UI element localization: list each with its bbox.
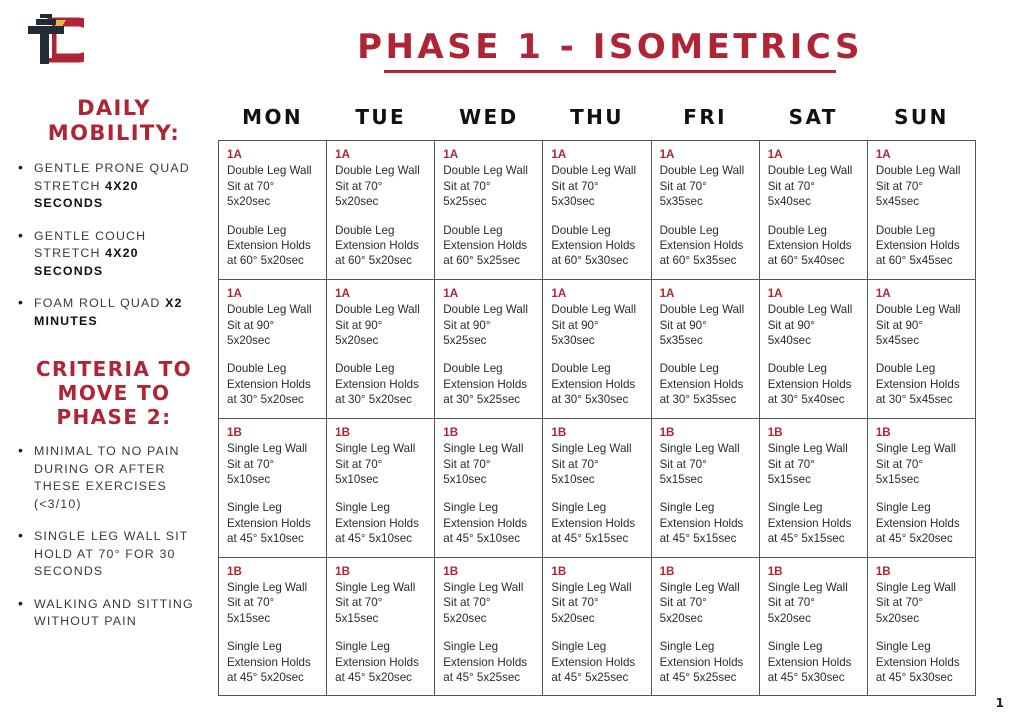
workout-cell[interactable]: 1BSingle Leg Wall Sit at 70° 5x20secSing… <box>651 557 759 696</box>
exercise-secondary: Single Leg Extension Holds at 45° 5x30se… <box>876 639 968 685</box>
exercise-tag: 1B <box>660 564 752 579</box>
exercise-secondary: Double Leg Extension Holds at 30° 5x35se… <box>660 361 752 407</box>
workout-cell[interactable]: 1BSingle Leg Wall Sit at 70° 5x10secSing… <box>543 418 651 557</box>
exercise-primary: Double Leg Wall Sit at 70° 5x20sec <box>335 163 427 209</box>
exercise-primary: Double Leg Wall Sit at 90° 5x45sec <box>876 302 968 348</box>
exercise-tag: 1B <box>768 564 860 579</box>
exercise-spacer <box>876 626 968 639</box>
exercise-tag: 1A <box>551 286 643 301</box>
workout-cell[interactable]: 1ADouble Leg Wall Sit at 70° 5x30secDoub… <box>543 141 651 280</box>
weekly-program-table: MONTUEWEDTHUFRISATSUN 1ADouble Leg Wall … <box>218 105 976 696</box>
exercise-spacer <box>443 348 535 361</box>
workout-cell[interactable]: 1BSingle Leg Wall Sit at 70° 5x10secSing… <box>435 418 543 557</box>
exercise-secondary: Single Leg Extension Holds at 45° 5x15se… <box>768 500 860 546</box>
exercise-spacer <box>876 348 968 361</box>
workout-cell[interactable]: 1BSingle Leg Wall Sit at 70° 5x15secSing… <box>327 557 435 696</box>
workout-cell[interactable]: 1BSingle Leg Wall Sit at 70° 5x15secSing… <box>651 418 759 557</box>
exercise-primary: Single Leg Wall Sit at 70° 5x10sec <box>227 441 319 487</box>
criteria-heading: CRITERIA TO MOVE TO PHASE 2: <box>16 357 212 429</box>
exercise-spacer <box>660 348 752 361</box>
exercise-spacer <box>551 348 643 361</box>
workout-cell[interactable]: 1BSingle Leg Wall Sit at 70° 5x15secSing… <box>759 418 867 557</box>
exercise-spacer <box>768 210 860 223</box>
exercise-spacer <box>768 487 860 500</box>
exercise-spacer <box>443 626 535 639</box>
exercise-primary: Double Leg Wall Sit at 90° 5x30sec <box>551 302 643 348</box>
exercise-tag: 1A <box>227 147 319 162</box>
workout-cell[interactable]: 1ADouble Leg Wall Sit at 90° 5x35secDoub… <box>651 279 759 418</box>
exercise-primary: Single Leg Wall Sit at 70° 5x10sec <box>335 441 427 487</box>
exercise-primary: Single Leg Wall Sit at 70° 5x20sec <box>551 580 643 626</box>
exercise-tag: 1B <box>227 564 319 579</box>
table-row: 1BSingle Leg Wall Sit at 70° 5x15secSing… <box>219 557 976 696</box>
exercise-secondary: Double Leg Extension Holds at 60° 5x45se… <box>876 223 968 269</box>
exercise-primary: Double Leg Wall Sit at 70° 5x25sec <box>443 163 535 209</box>
exercise-secondary: Single Leg Extension Holds at 45° 5x20se… <box>876 500 968 546</box>
criteria-item-text: MINIMAL TO NO PAIN DURING OR AFTER THESE… <box>34 444 180 511</box>
day-header-tue: TUE <box>327 105 435 141</box>
day-header-sat: SAT <box>759 105 867 141</box>
day-header-wed: WED <box>435 105 543 141</box>
exercise-primary: Single Leg Wall Sit at 70° 5x20sec <box>443 580 535 626</box>
exercise-secondary: Double Leg Extension Holds at 60° 5x20se… <box>227 223 319 269</box>
exercise-secondary: Single Leg Extension Holds at 45° 5x25se… <box>660 639 752 685</box>
exercise-tag: 1A <box>335 147 427 162</box>
workout-cell[interactable]: 1ADouble Leg Wall Sit at 90° 5x30secDoub… <box>543 279 651 418</box>
exercise-tag: 1B <box>768 425 860 440</box>
exercise-secondary: Double Leg Extension Holds at 30° 5x40se… <box>768 361 860 407</box>
workout-cell[interactable]: 1BSingle Leg Wall Sit at 70° 5x15secSing… <box>219 557 327 696</box>
exercise-tag: 1A <box>335 286 427 301</box>
exercise-spacer <box>335 487 427 500</box>
workout-cell[interactable]: 1BSingle Leg Wall Sit at 70° 5x20secSing… <box>867 557 975 696</box>
exercise-secondary: Single Leg Extension Holds at 45° 5x15se… <box>660 500 752 546</box>
exercise-secondary: Double Leg Extension Holds at 30° 5x20se… <box>227 361 319 407</box>
exercise-spacer <box>551 487 643 500</box>
page-title: PHASE 1 - ISOMETRICS <box>230 27 990 73</box>
exercise-primary: Double Leg Wall Sit at 90° 5x25sec <box>443 302 535 348</box>
exercise-spacer <box>443 487 535 500</box>
brand-logo-icon <box>22 14 84 66</box>
exercise-primary: Single Leg Wall Sit at 70° 5x15sec <box>227 580 319 626</box>
exercise-primary: Double Leg Wall Sit at 90° 5x40sec <box>768 302 860 348</box>
exercise-secondary: Double Leg Extension Holds at 30° 5x25se… <box>443 361 535 407</box>
exercise-spacer <box>768 626 860 639</box>
exercise-tag: 1B <box>551 564 643 579</box>
table-row: 1BSingle Leg Wall Sit at 70° 5x10secSing… <box>219 418 976 557</box>
exercise-tag: 1B <box>443 564 535 579</box>
weekly-program-table-wrapper: MONTUEWEDTHUFRISATSUN 1ADouble Leg Wall … <box>218 105 976 696</box>
exercise-secondary: Single Leg Extension Holds at 45° 5x30se… <box>768 639 860 685</box>
exercise-secondary: Single Leg Extension Holds at 45° 5x20se… <box>335 639 427 685</box>
exercise-spacer <box>876 487 968 500</box>
exercise-tag: 1B <box>443 425 535 440</box>
day-header-mon: MON <box>219 105 327 141</box>
workout-cell[interactable]: 1ADouble Leg Wall Sit at 70° 5x25secDoub… <box>435 141 543 280</box>
workout-cell[interactable]: 1ADouble Leg Wall Sit at 90° 5x25secDoub… <box>435 279 543 418</box>
exercise-secondary: Double Leg Extension Holds at 60° 5x40se… <box>768 223 860 269</box>
criteria-item: SINGLE LEG WALL SIT HOLD AT 70° FOR 30 S… <box>16 528 212 581</box>
exercise-tag: 1B <box>551 425 643 440</box>
exercise-primary: Single Leg Wall Sit at 70° 5x15sec <box>660 441 752 487</box>
exercise-tag: 1B <box>335 564 427 579</box>
criteria-list: MINIMAL TO NO PAIN DURING OR AFTER THESE… <box>16 443 212 631</box>
mobility-item: FOAM ROLL QUAD X2 MINUTES <box>16 295 212 330</box>
exercise-tag: 1A <box>443 286 535 301</box>
exercise-spacer <box>335 626 427 639</box>
exercise-tag: 1A <box>443 147 535 162</box>
exercise-primary: Double Leg Wall Sit at 90° 5x35sec <box>660 302 752 348</box>
mobility-item-text: FOAM ROLL QUAD <box>34 296 165 310</box>
exercise-tag: 1B <box>335 425 427 440</box>
workout-cell[interactable]: 1BSingle Leg Wall Sit at 70° 5x10secSing… <box>219 418 327 557</box>
exercise-secondary: Double Leg Extension Holds at 60° 5x20se… <box>335 223 427 269</box>
exercise-secondary: Single Leg Extension Holds at 45° 5x10se… <box>335 500 427 546</box>
exercise-spacer <box>227 487 319 500</box>
exercise-primary: Single Leg Wall Sit at 70° 5x15sec <box>335 580 427 626</box>
exercise-tag: 1B <box>660 425 752 440</box>
exercise-primary: Single Leg Wall Sit at 70° 5x20sec <box>768 580 860 626</box>
exercise-tag: 1B <box>876 564 968 579</box>
day-header-row: MONTUEWEDTHUFRISATSUN <box>219 105 976 141</box>
workout-cell[interactable]: 1ADouble Leg Wall Sit at 90° 5x45secDoub… <box>867 279 975 418</box>
exercise-secondary: Single Leg Extension Holds at 45° 5x25se… <box>443 639 535 685</box>
exercise-secondary: Single Leg Extension Holds at 45° 5x25se… <box>551 639 643 685</box>
exercise-primary: Single Leg Wall Sit at 70° 5x10sec <box>551 441 643 487</box>
daily-mobility-list: GENTLE PRONE QUAD STRETCH 4X20 SECONDSGE… <box>16 160 212 330</box>
workout-cell[interactable]: 1ADouble Leg Wall Sit at 90° 5x20secDoub… <box>327 279 435 418</box>
criteria-item-text: WALKING AND SITTING WITHOUT PAIN <box>34 597 194 629</box>
title-underline <box>384 70 836 73</box>
exercise-secondary: Single Leg Extension Holds at 45° 5x10se… <box>443 500 535 546</box>
exercise-spacer <box>876 210 968 223</box>
exercise-tag: 1A <box>876 286 968 301</box>
exercise-primary: Single Leg Wall Sit at 70° 5x15sec <box>768 441 860 487</box>
page-title-text: PHASE 1 - ISOMETRICS <box>357 27 863 67</box>
exercise-secondary: Single Leg Extension Holds at 45° 5x10se… <box>227 500 319 546</box>
exercise-spacer <box>227 348 319 361</box>
workout-cell[interactable]: 1BSingle Leg Wall Sit at 70° 5x20secSing… <box>543 557 651 696</box>
exercise-spacer <box>660 626 752 639</box>
exercise-spacer <box>660 487 752 500</box>
workout-cell[interactable]: 1ADouble Leg Wall Sit at 90° 5x40secDoub… <box>759 279 867 418</box>
sidebar-spacer <box>16 345 212 357</box>
exercise-primary: Single Leg Wall Sit at 70° 5x10sec <box>443 441 535 487</box>
exercise-secondary: Double Leg Extension Holds at 30° 5x45se… <box>876 361 968 407</box>
mobility-item: GENTLE PRONE QUAD STRETCH 4X20 SECONDS <box>16 160 212 213</box>
exercise-secondary: Double Leg Extension Holds at 60° 5x35se… <box>660 223 752 269</box>
exercise-tag: 1A <box>227 286 319 301</box>
exercise-tag: 1A <box>660 147 752 162</box>
exercise-secondary: Double Leg Extension Holds at 30° 5x30se… <box>551 361 643 407</box>
exercise-tag: 1A <box>876 147 968 162</box>
workout-cell[interactable]: 1ADouble Leg Wall Sit at 70° 5x40secDoub… <box>759 141 867 280</box>
exercise-tag: 1A <box>768 147 860 162</box>
exercise-spacer <box>335 348 427 361</box>
workout-cell[interactable]: 1ADouble Leg Wall Sit at 70° 5x20secDoub… <box>219 141 327 280</box>
exercise-spacer <box>551 626 643 639</box>
exercise-spacer <box>660 210 752 223</box>
exercise-primary: Double Leg Wall Sit at 70° 5x45sec <box>876 163 968 209</box>
workout-cell[interactable]: 1ADouble Leg Wall Sit at 70° 5x45secDoub… <box>867 141 975 280</box>
criteria-item-text: SINGLE LEG WALL SIT HOLD AT 70° FOR 30 S… <box>34 529 188 578</box>
exercise-spacer <box>227 210 319 223</box>
exercise-primary: Double Leg Wall Sit at 90° 5x20sec <box>335 302 427 348</box>
workout-cell[interactable]: 1BSingle Leg Wall Sit at 70° 5x20secSing… <box>435 557 543 696</box>
page-number: 1 <box>996 696 1004 710</box>
day-header-sun: SUN <box>867 105 975 141</box>
exercise-primary: Single Leg Wall Sit at 70° 5x20sec <box>660 580 752 626</box>
exercise-primary: Double Leg Wall Sit at 70° 5x35sec <box>660 163 752 209</box>
exercise-primary: Single Leg Wall Sit at 70° 5x20sec <box>876 580 968 626</box>
daily-mobility-heading: DAILY MOBILITY: <box>16 96 212 146</box>
exercise-spacer <box>768 348 860 361</box>
table-row: 1ADouble Leg Wall Sit at 90° 5x20secDoub… <box>219 279 976 418</box>
criteria-item: MINIMAL TO NO PAIN DURING OR AFTER THESE… <box>16 443 212 513</box>
sidebar: DAILY MOBILITY: GENTLE PRONE QUAD STRETC… <box>16 96 212 646</box>
exercise-spacer <box>443 210 535 223</box>
exercise-primary: Single Leg Wall Sit at 70° 5x15sec <box>876 441 968 487</box>
mobility-item: GENTLE COUCH STRETCH 4X20 SECONDS <box>16 228 212 281</box>
exercise-tag: 1A <box>660 286 752 301</box>
day-header-thu: THU <box>543 105 651 141</box>
table-body: 1ADouble Leg Wall Sit at 70° 5x20secDoub… <box>219 141 976 696</box>
workout-cell[interactable]: 1ADouble Leg Wall Sit at 90° 5x20secDoub… <box>219 279 327 418</box>
exercise-primary: Double Leg Wall Sit at 70° 5x20sec <box>227 163 319 209</box>
workout-cell[interactable]: 1ADouble Leg Wall Sit at 70° 5x20secDoub… <box>327 141 435 280</box>
criteria-item: WALKING AND SITTING WITHOUT PAIN <box>16 596 212 631</box>
exercise-tag: 1A <box>768 286 860 301</box>
table-head: MONTUEWEDTHUFRISATSUN <box>219 105 976 141</box>
table-row: 1ADouble Leg Wall Sit at 70° 5x20secDoub… <box>219 141 976 280</box>
workout-cell[interactable]: 1ADouble Leg Wall Sit at 70° 5x35secDoub… <box>651 141 759 280</box>
exercise-secondary: Single Leg Extension Holds at 45° 5x20se… <box>227 639 319 685</box>
exercise-secondary: Double Leg Extension Holds at 60° 5x30se… <box>551 223 643 269</box>
workout-cell[interactable]: 1BSingle Leg Wall Sit at 70° 5x15secSing… <box>867 418 975 557</box>
exercise-primary: Double Leg Wall Sit at 70° 5x30sec <box>551 163 643 209</box>
exercise-tag: 1B <box>227 425 319 440</box>
exercise-secondary: Single Leg Extension Holds at 45° 5x15se… <box>551 500 643 546</box>
workout-cell[interactable]: 1BSingle Leg Wall Sit at 70° 5x10secSing… <box>327 418 435 557</box>
document-page: PHASE 1 - ISOMETRICS DAILY MOBILITY: GEN… <box>0 0 1024 724</box>
exercise-primary: Double Leg Wall Sit at 70° 5x40sec <box>768 163 860 209</box>
exercise-secondary: Double Leg Extension Holds at 30° 5x20se… <box>335 361 427 407</box>
exercise-secondary: Double Leg Extension Holds at 60° 5x25se… <box>443 223 535 269</box>
day-header-fri: FRI <box>651 105 759 141</box>
exercise-spacer <box>551 210 643 223</box>
exercise-spacer <box>227 626 319 639</box>
exercise-primary: Double Leg Wall Sit at 90° 5x20sec <box>227 302 319 348</box>
exercise-tag: 1B <box>876 425 968 440</box>
exercise-spacer <box>335 210 427 223</box>
workout-cell[interactable]: 1BSingle Leg Wall Sit at 70° 5x20secSing… <box>759 557 867 696</box>
exercise-tag: 1A <box>551 147 643 162</box>
